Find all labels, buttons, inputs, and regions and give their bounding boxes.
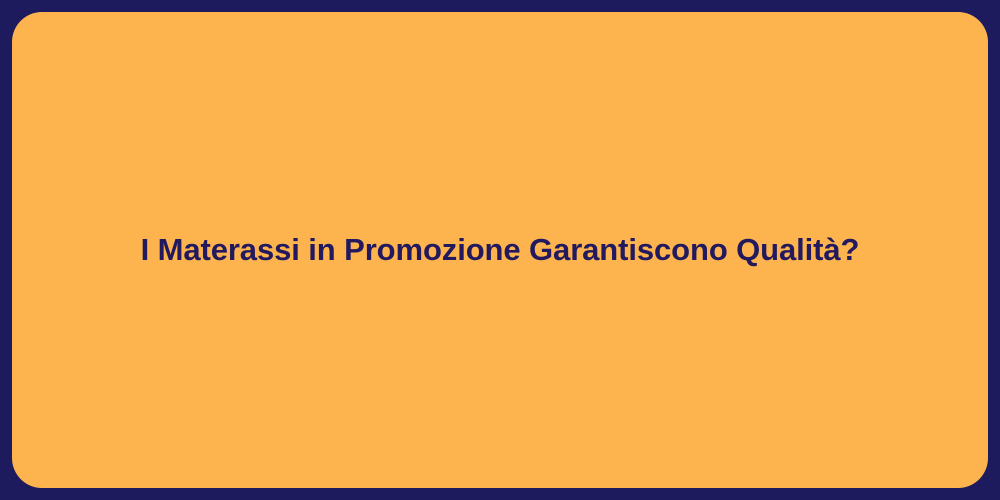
banner-outer-frame: I Materassi in Promozione Garantiscono Q… bbox=[0, 0, 1000, 500]
banner-heading: I Materassi in Promozione Garantiscono Q… bbox=[101, 231, 900, 270]
banner-panel: I Materassi in Promozione Garantiscono Q… bbox=[12, 12, 988, 488]
